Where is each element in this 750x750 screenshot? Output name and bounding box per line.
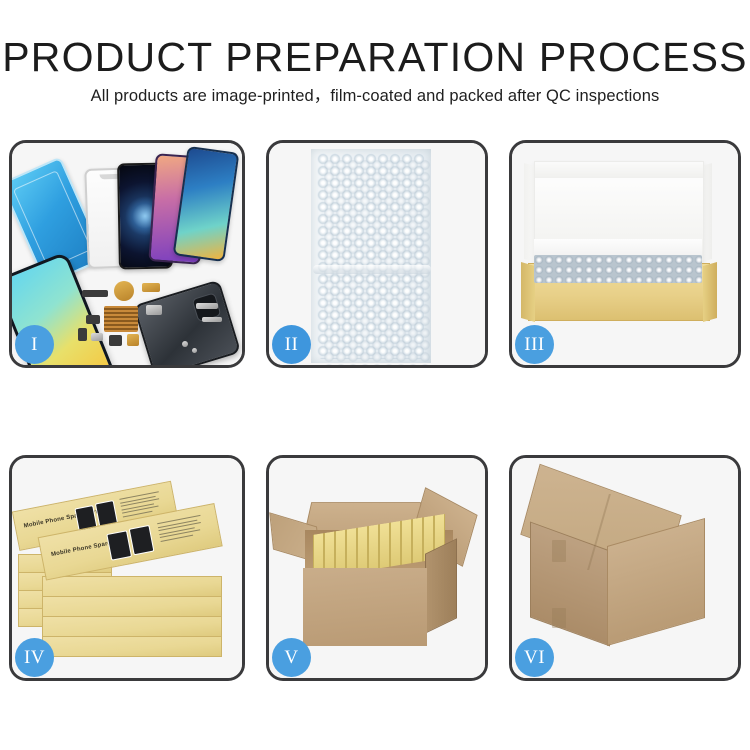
step-badge-3: III: [515, 325, 554, 364]
step-card-6: VI: [509, 455, 741, 681]
spare-part-tweezers: [202, 317, 222, 322]
spare-part-speaker: [109, 335, 122, 346]
step-badge-2: II: [272, 325, 311, 364]
spare-part-strip: [82, 290, 108, 297]
bubble-wrap-bubbles-layer2: [323, 159, 431, 365]
step-badge-1: I: [15, 325, 54, 364]
spare-part-coil: [114, 281, 134, 301]
spare-part-screw-b: [192, 348, 197, 353]
carton-side-face: [425, 538, 457, 634]
step-badge-6: VI: [515, 638, 554, 677]
spare-part-screw-a: [182, 341, 188, 347]
spare-part-shield: [91, 333, 103, 341]
inner-box-bubble-filling: [534, 255, 702, 283]
step-card-3: III: [509, 140, 741, 368]
spare-part-tool: [196, 303, 218, 309]
spare-part-bracket: [142, 283, 160, 292]
product-preparation-process-page: PRODUCT PREPARATION PROCESS All products…: [0, 0, 750, 750]
sealed-carton-tape-bottom: [552, 608, 566, 628]
step-badge-4: IV: [15, 638, 54, 677]
step-card-4: Mobile Phone Spare Parts Mobile Phone Sp…: [9, 455, 245, 681]
process-steps-grid: I II III: [0, 0, 750, 750]
spare-part-flex-cable: [146, 305, 162, 315]
step-badge-5: V: [272, 638, 311, 677]
retail-box-slab: [42, 636, 220, 655]
step-card-2: II: [266, 140, 488, 368]
retail-box-slab: [42, 576, 220, 595]
step-card-1: I: [9, 140, 245, 368]
phone-back-housing: [133, 280, 241, 365]
spare-part-connector-board: [104, 306, 138, 332]
retail-box-slab: [42, 596, 220, 615]
spare-part-clip: [86, 315, 100, 324]
step-card-5: V: [266, 455, 488, 681]
spare-part-button: [78, 328, 87, 341]
retail-box-slab: [42, 616, 220, 635]
carton-front-face: [303, 568, 427, 646]
spare-part-module: [127, 334, 139, 346]
sealed-carton-tape-left: [552, 540, 566, 562]
bubble-wrap-fold: [313, 265, 431, 274]
